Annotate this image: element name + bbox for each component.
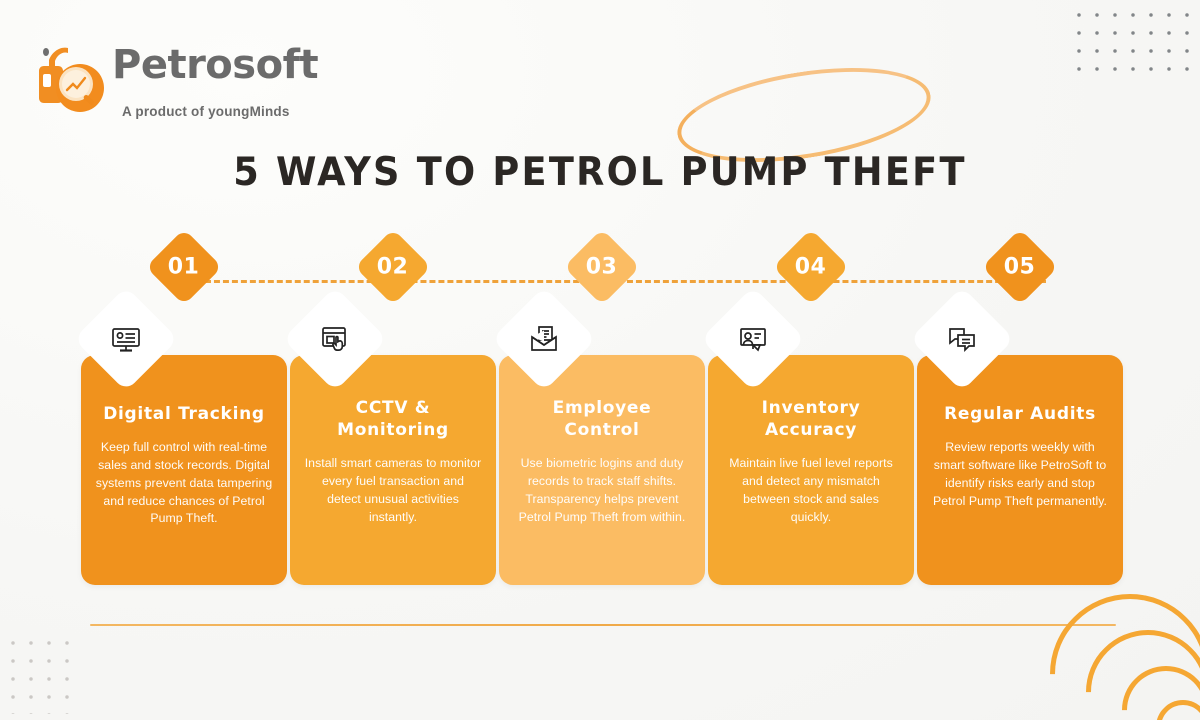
step-number-badge-5: 05 xyxy=(982,229,1058,305)
step-body-4: Inventory Accuracy Maintain live fuel le… xyxy=(708,355,914,585)
brand-name: Petrosoft xyxy=(112,42,318,88)
step-body-1: Digital Tracking Keep full control with … xyxy=(81,355,287,585)
step-number-badge-4: 04 xyxy=(773,229,849,305)
step-description-5: Review reports weekly with smart softwar… xyxy=(917,439,1123,510)
step-number-badge-2: 02 xyxy=(355,229,431,305)
brand-tagline: A product of youngMinds xyxy=(122,104,290,119)
fuel-nozzle-magnifier-icon xyxy=(24,44,110,120)
step-description-2: Install smart cameras to monitor every f… xyxy=(290,455,496,526)
page-title: 5 WAYS TO PETROL PUMP THEFT xyxy=(36,150,1164,195)
infographic-canvas: Petrosoft A product of youngMinds 5 WAYS… xyxy=(0,0,1200,720)
horizontal-rule xyxy=(90,624,1116,626)
dot-grid-icon-top-right xyxy=(1070,6,1200,84)
step-body-2: CCTV & Monitoring Install smart cameras … xyxy=(290,355,496,585)
step-description-4: Maintain live fuel level reports and det… xyxy=(708,455,914,526)
steps-row: 01 Digital Tracking Keep full control wi… xyxy=(0,240,1200,600)
step-description-3: Use biometric logins and duty records to… xyxy=(499,455,705,526)
dot-grid-icon-bottom-left xyxy=(4,634,78,714)
step-body-3: Employee Control Use biometric logins an… xyxy=(499,355,705,585)
step-description-1: Keep full control with real-time sales a… xyxy=(81,439,287,528)
step-body-5: Regular Audits Review reports weekly wit… xyxy=(917,355,1123,585)
brand-logo: Petrosoft A product of youngMinds xyxy=(24,40,294,124)
step-number-badge-1: 01 xyxy=(146,229,222,305)
step-number-badge-3: 03 xyxy=(564,229,640,305)
concentric-arcs-icon xyxy=(1060,624,1200,720)
